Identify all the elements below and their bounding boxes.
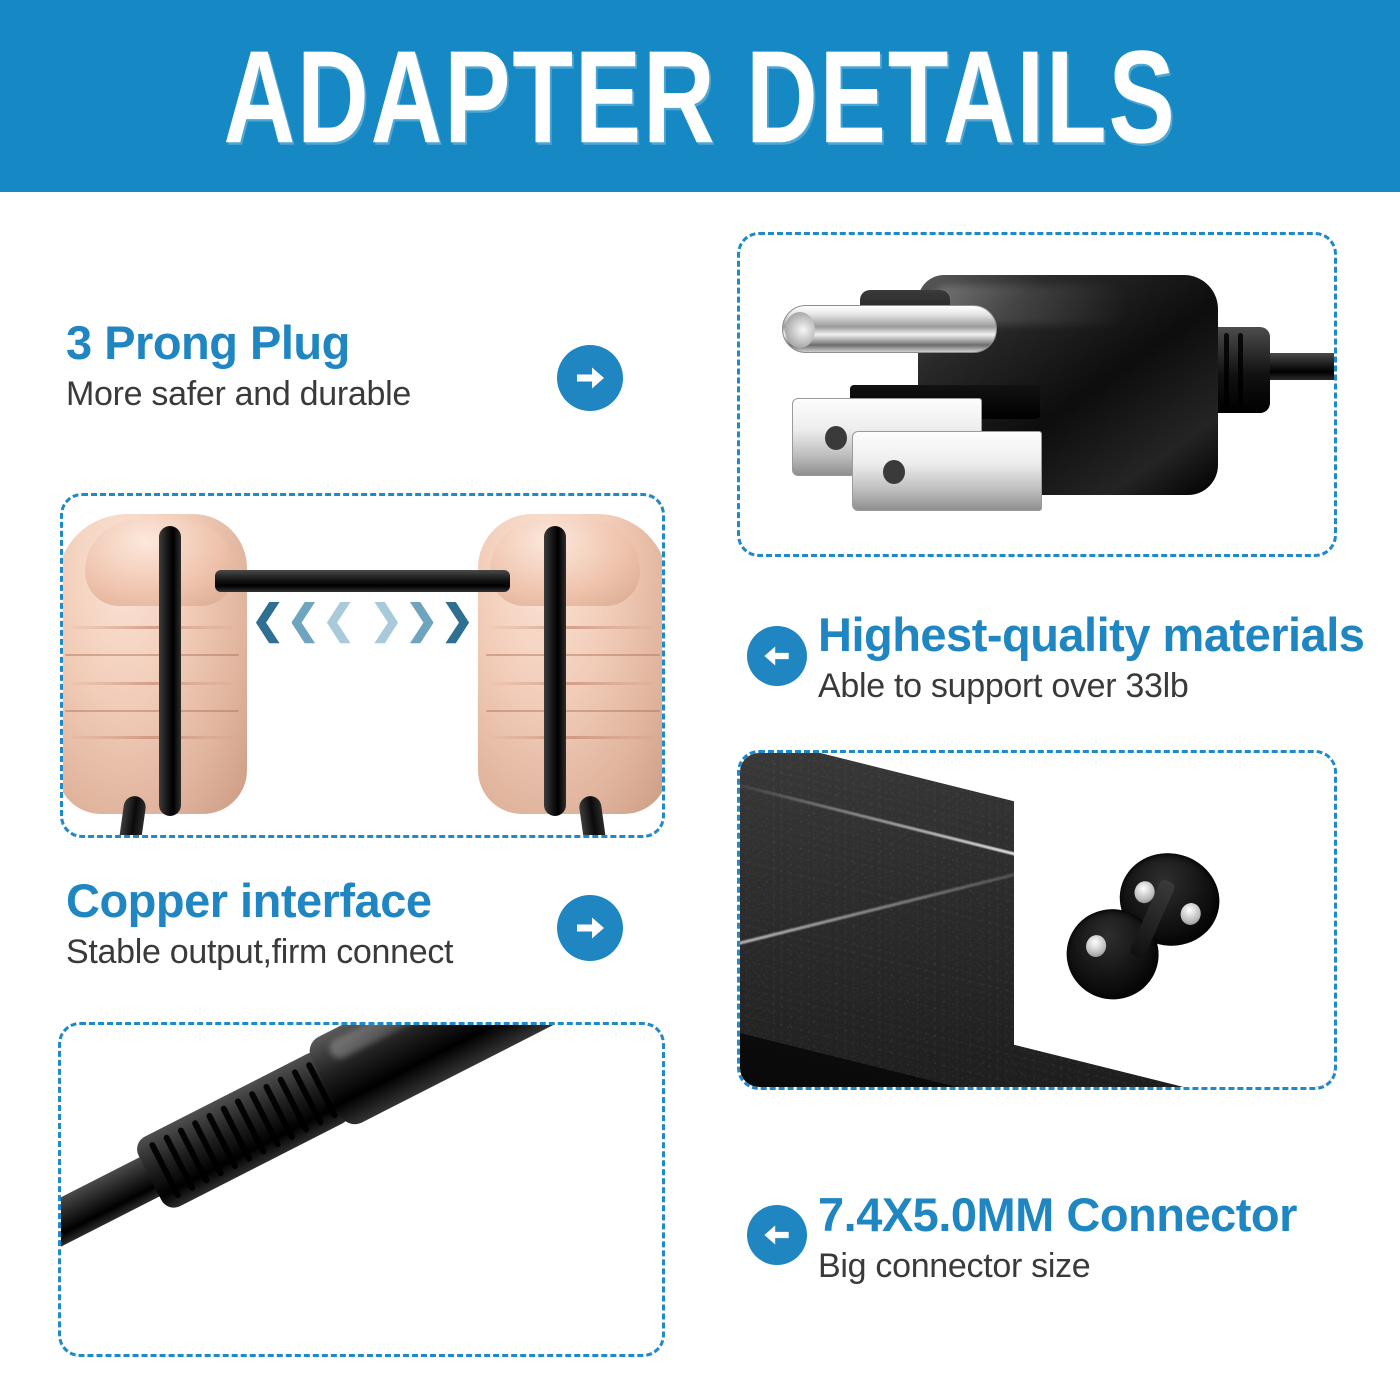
feature-block-highest-quality-materials: Highest-quality materials Able to suppor… [818, 610, 1364, 706]
feature-headline-highest-quality-materials: Highest-quality materials [818, 610, 1364, 659]
cable-right-loop [544, 526, 566, 816]
page-title: ADAPTER DETAILS [223, 20, 1176, 173]
plug-photo-panel: Black three-prong NEMA 5-15P AC power pl… [737, 232, 1337, 557]
feature-block-connector-size: 7.4X5.0MM Connector Big connector size [818, 1190, 1297, 1286]
hands-cable-pull-photo-panel: ❮❮❮ ❯❯❯ Two fists gripping a black power… [60, 493, 665, 838]
right-fist [478, 514, 665, 814]
feature-block-copper-interface: Copper interface Stable output,firm conn… [66, 876, 453, 972]
arrow-left-circle-icon [747, 626, 807, 686]
plug-ground-pin [782, 305, 997, 353]
arrow-right-circle-icon [557, 895, 623, 961]
dc-connector-photo-panel: Black DC barrel connector with chrome ti… [58, 1022, 665, 1357]
chevron-left-icon: ❮❮❮ [251, 600, 356, 640]
feature-block-three-prong-plug: 3 Prong Plug More safer and durable [66, 318, 411, 414]
feature-headline-copper-interface: Copper interface [66, 876, 453, 925]
hands-cable-pull-photo: ❮❮❮ ❯❯❯ [63, 496, 662, 835]
cable-span [215, 570, 510, 592]
plug-photo [740, 235, 1334, 554]
adapter-brick-photo-panel: Close-up of the black textured power ada… [737, 750, 1337, 1090]
header-banner: ADAPTER DETAILS [0, 0, 1400, 192]
feature-headline-three-prong-plug: 3 Prong Plug [66, 318, 411, 367]
feature-subtext-connector-size: Big connector size [818, 1247, 1297, 1286]
left-fist [60, 514, 247, 814]
feature-subtext-highest-quality-materials: Able to support over 33lb [818, 667, 1364, 706]
feature-headline-connector-size: 7.4X5.0MM Connector [818, 1190, 1297, 1239]
arrow-left-circle-icon [747, 1205, 807, 1265]
chevron-right-icon: ❯❯❯ [369, 600, 474, 640]
dc-barrel-body [304, 1022, 570, 1130]
feature-subtext-copper-interface: Stable output,firm connect [66, 933, 453, 972]
adapter-brick-photo [740, 753, 1334, 1087]
cable-left-loop [159, 526, 181, 816]
plug-blade-line [852, 431, 1042, 511]
arrow-right-circle-icon [557, 345, 623, 411]
dc-connector-photo [61, 1025, 662, 1354]
feature-subtext-three-prong-plug: More safer and durable [66, 375, 411, 414]
